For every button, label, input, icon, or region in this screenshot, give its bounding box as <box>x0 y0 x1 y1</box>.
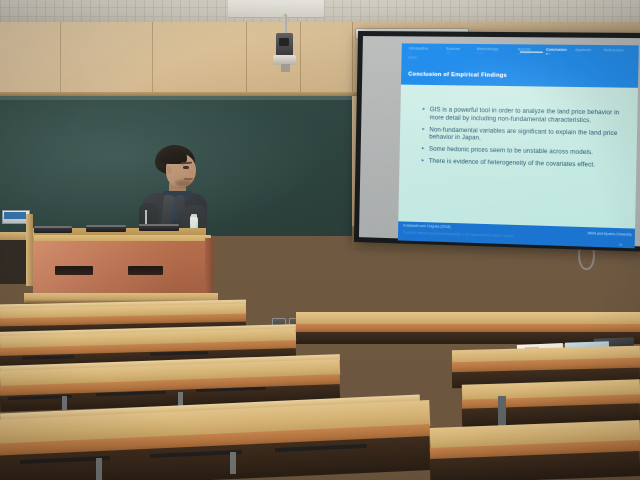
side-monitor-screen <box>4 212 26 219</box>
presenter-eye <box>183 166 189 169</box>
nav-label: Introduction <box>409 46 429 50</box>
side-desk-shadow <box>0 240 26 284</box>
desk-equipment-top <box>86 225 126 227</box>
chair-leg <box>62 396 67 410</box>
chair-leg <box>230 452 236 474</box>
bullet-text: GIS is a powerful tool in order to analy… <box>430 106 622 125</box>
slide-nav-conclusion: Conclusion ●○ <box>546 48 567 57</box>
list-item: ▸ Non-fundamental variables are signific… <box>422 126 621 145</box>
slide-nav-introduction: Introduction ○ Data <box>409 46 429 60</box>
slide-page-number: 25 <box>619 243 623 247</box>
lectern-vent-slot <box>55 266 93 275</box>
lecture-hall-photo: Introduction ○ Data Sources ○○ Methodolo… <box>0 0 640 480</box>
nav-dots: ○○○○○ <box>518 52 531 57</box>
chair-leg <box>96 458 102 480</box>
nav-sublabel: Data <box>409 55 429 60</box>
presenter-ear <box>166 166 172 174</box>
lectern-vent-slot <box>128 266 163 275</box>
screen-surface: Introduction ○ Data Sources ○○ Methodolo… <box>359 36 640 246</box>
slide-title: Conclusion of Empirical Findings <box>408 71 507 78</box>
slide-nav-appendix: Appendix <box>575 48 591 53</box>
list-item: ▸ GIS is a powerful tool in order to ana… <box>422 106 621 125</box>
slide-nav-methodology: Methodology ○○○ <box>477 47 499 56</box>
lectern-right-edge <box>205 238 213 298</box>
projection-screen: Introduction ○ Data Sources ○○ Methodolo… <box>354 31 640 252</box>
bullet-text: Some hedonic prices seem to be unstable … <box>429 146 593 157</box>
list-item: ▸ Some hedonic prices seem to be unstabl… <box>422 146 621 158</box>
desk-equipment-top <box>139 224 179 226</box>
chair-leg <box>178 392 183 406</box>
blackboard-top-highlight <box>0 96 362 100</box>
bullet-text: There is evidence of heterogeneity of th… <box>429 158 596 170</box>
slide-nav-results: Results ○○○○○ <box>518 47 531 56</box>
presenter-nose <box>189 169 195 176</box>
nav-label: Appendix <box>575 48 591 52</box>
desk-equipment-top <box>34 226 72 228</box>
slide-nav-references: References <box>604 48 624 53</box>
camera-stub <box>281 64 290 72</box>
nav-dots: ●○ <box>546 52 567 57</box>
nav-label: References <box>604 48 624 52</box>
nav-dots: ○○○ <box>477 52 499 57</box>
presenter-chin-shadow <box>175 180 193 187</box>
side-post <box>26 214 33 286</box>
ceiling-panel <box>228 0 324 18</box>
bullet-text: Non-fundamental variables are significan… <box>429 126 621 145</box>
desk-front-panel <box>296 324 640 332</box>
camera-lens-icon <box>279 38 289 46</box>
projected-slide: Introduction ○ Data Sources ○○ Methodolo… <box>398 43 639 248</box>
slide-bullet-list: ▸ GIS is a powerful tool in order to ana… <box>421 106 621 174</box>
list-item: ▸ There is evidence of heterogeneity of … <box>422 158 621 170</box>
slide-nav-sources: Sources ○○ <box>446 47 460 56</box>
nav-dots: ○○ <box>446 51 460 56</box>
